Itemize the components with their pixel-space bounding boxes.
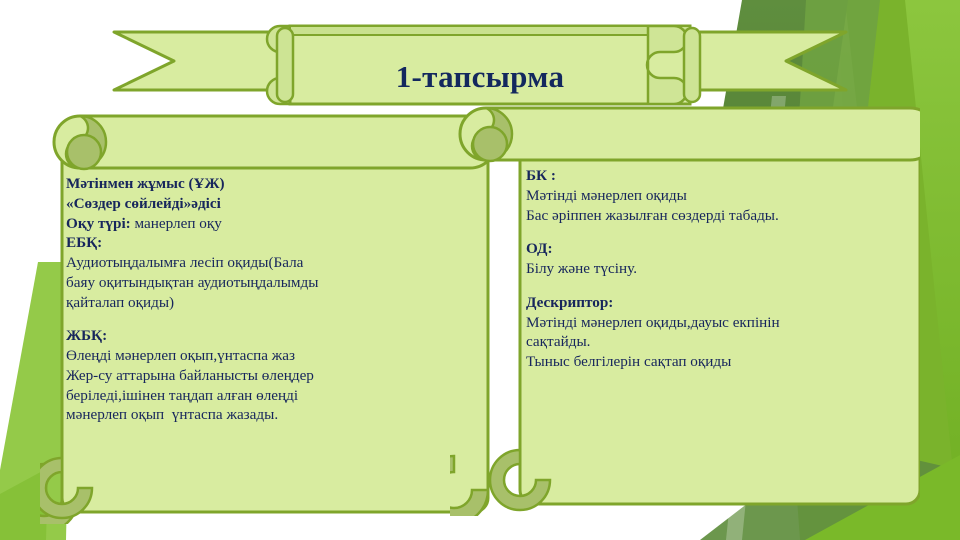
right-panel-scroll-top (460, 108, 920, 160)
text-spacer (526, 225, 898, 239)
text-line: БК : (526, 166, 898, 186)
text-line: қайталап оқиды) (66, 293, 458, 313)
text-line: беріледі,ішінен таңдап алған өлеңді (66, 386, 458, 406)
text-line: ЕБҚ: (66, 233, 458, 253)
left-scroll-panel: Мәтінмен жұмыс (ҰЖ)«Сөздер сөйлейді»әдіс… (40, 112, 510, 524)
text-line: Жер-су аттарына байланысты өлеңдер (66, 366, 458, 386)
text-line-bold: ОД: (526, 240, 553, 257)
right-panel-curl-bottom-outer (450, 456, 488, 516)
text-line: ОД: (526, 239, 898, 259)
text-spacer (66, 312, 458, 326)
text-line: Оқу түрі: манерлеп оқу (66, 214, 458, 234)
text-line: Аудиотыңдалымға лесіп оқиды(Бала (66, 253, 458, 273)
text-line: Тыныс белгілерін сақтап оқиды (526, 352, 898, 372)
text-spacer (526, 279, 898, 293)
left-panel-scroll-top (54, 116, 496, 168)
text-line-regular: Жер-су аттарына байланысты өлеңдер (66, 367, 314, 384)
text-line-regular: Өлеңді мәнерлеп оқып,үнтаспа жаз (66, 347, 295, 364)
text-line: Мәтінді мәнерлеп оқиды (526, 186, 898, 206)
right-panel-text: БК :Мәтінді мәнерлеп оқидыБас әріппен жа… (526, 166, 898, 372)
text-line: Бас әріппен жазылған сөздерді табады. (526, 206, 898, 226)
text-line: «Сөздер сөйлейді»әдісі (66, 194, 458, 214)
text-line-bold: ЖБҚ: (66, 327, 107, 344)
right-scroll-panel: БК :Мәтінді мәнерлеп оқидыБас әріппен жа… (450, 104, 920, 516)
text-line-regular: баяу оқитындықтан аудиотыңдалымды (66, 274, 318, 291)
text-line-regular: мәнерлеп оқып үнтаспа жазады. (66, 406, 278, 423)
text-line-regular: сақтайды. (526, 333, 590, 350)
left-panel-text: Мәтінмен жұмыс (ҰЖ)«Сөздер сөйлейді»әдіс… (66, 174, 458, 425)
text-line-regular: Бас әріппен жазылған сөздерді табады. (526, 207, 779, 224)
text-line: сақтайды. (526, 332, 898, 352)
text-line: ЖБҚ: (66, 326, 458, 346)
text-line: Өлеңді мәнерлеп оқып,үнтаспа жаз (66, 346, 458, 366)
text-line: Мәтінмен жұмыс (ҰЖ) (66, 174, 458, 194)
title-ribbon: 1-тапсырма (112, 14, 848, 106)
text-line-bold: БК : (526, 167, 556, 184)
text-line-regular: манерлеп оқу (131, 215, 222, 232)
text-line-regular: Аудиотыңдалымға лесіп оқиды(Бала (66, 254, 303, 271)
text-line-bold: ЕБҚ: (66, 234, 102, 251)
text-line-bold: Мәтінмен жұмыс (ҰЖ) (66, 175, 225, 192)
page-title: 1-тапсырма (112, 14, 848, 106)
slide-canvas: 1-тапсырма Мәтінмен жұмыс (ҰЖ)«Сөздер сө… (0, 0, 960, 540)
text-line-regular: қайталап оқиды) (66, 294, 174, 311)
text-line-regular: беріледі,ішінен таңдап алған өлеңді (66, 387, 298, 404)
left-panel-curl-top-disc (67, 135, 101, 169)
text-line-bold: «Сөздер сөйлейді»әдісі (66, 195, 221, 212)
text-line-bold: Дескриптор: (526, 294, 613, 311)
right-panel-curl-top-disc (473, 127, 507, 161)
text-line-regular: Мәтінді мәнерлеп оқиды (526, 187, 687, 204)
text-line-bold: Оқу түрі: (66, 215, 131, 232)
text-line: баяу оқитындықтан аудиотыңдалымды (66, 273, 458, 293)
text-line: Білу және түсіну. (526, 259, 898, 279)
text-line: мәнерлеп оқып үнтаспа жазады. (66, 405, 458, 425)
text-line: Мәтінді мәнерлеп оқиды,дауыс екпінін (526, 313, 898, 333)
text-line-regular: Білу және түсіну. (526, 260, 637, 277)
text-line-regular: Мәтінді мәнерлеп оқиды,дауыс екпінін (526, 314, 780, 331)
text-line-regular: Тыныс белгілерін сақтап оқиды (526, 353, 731, 370)
text-line: Дескриптор: (526, 293, 898, 313)
